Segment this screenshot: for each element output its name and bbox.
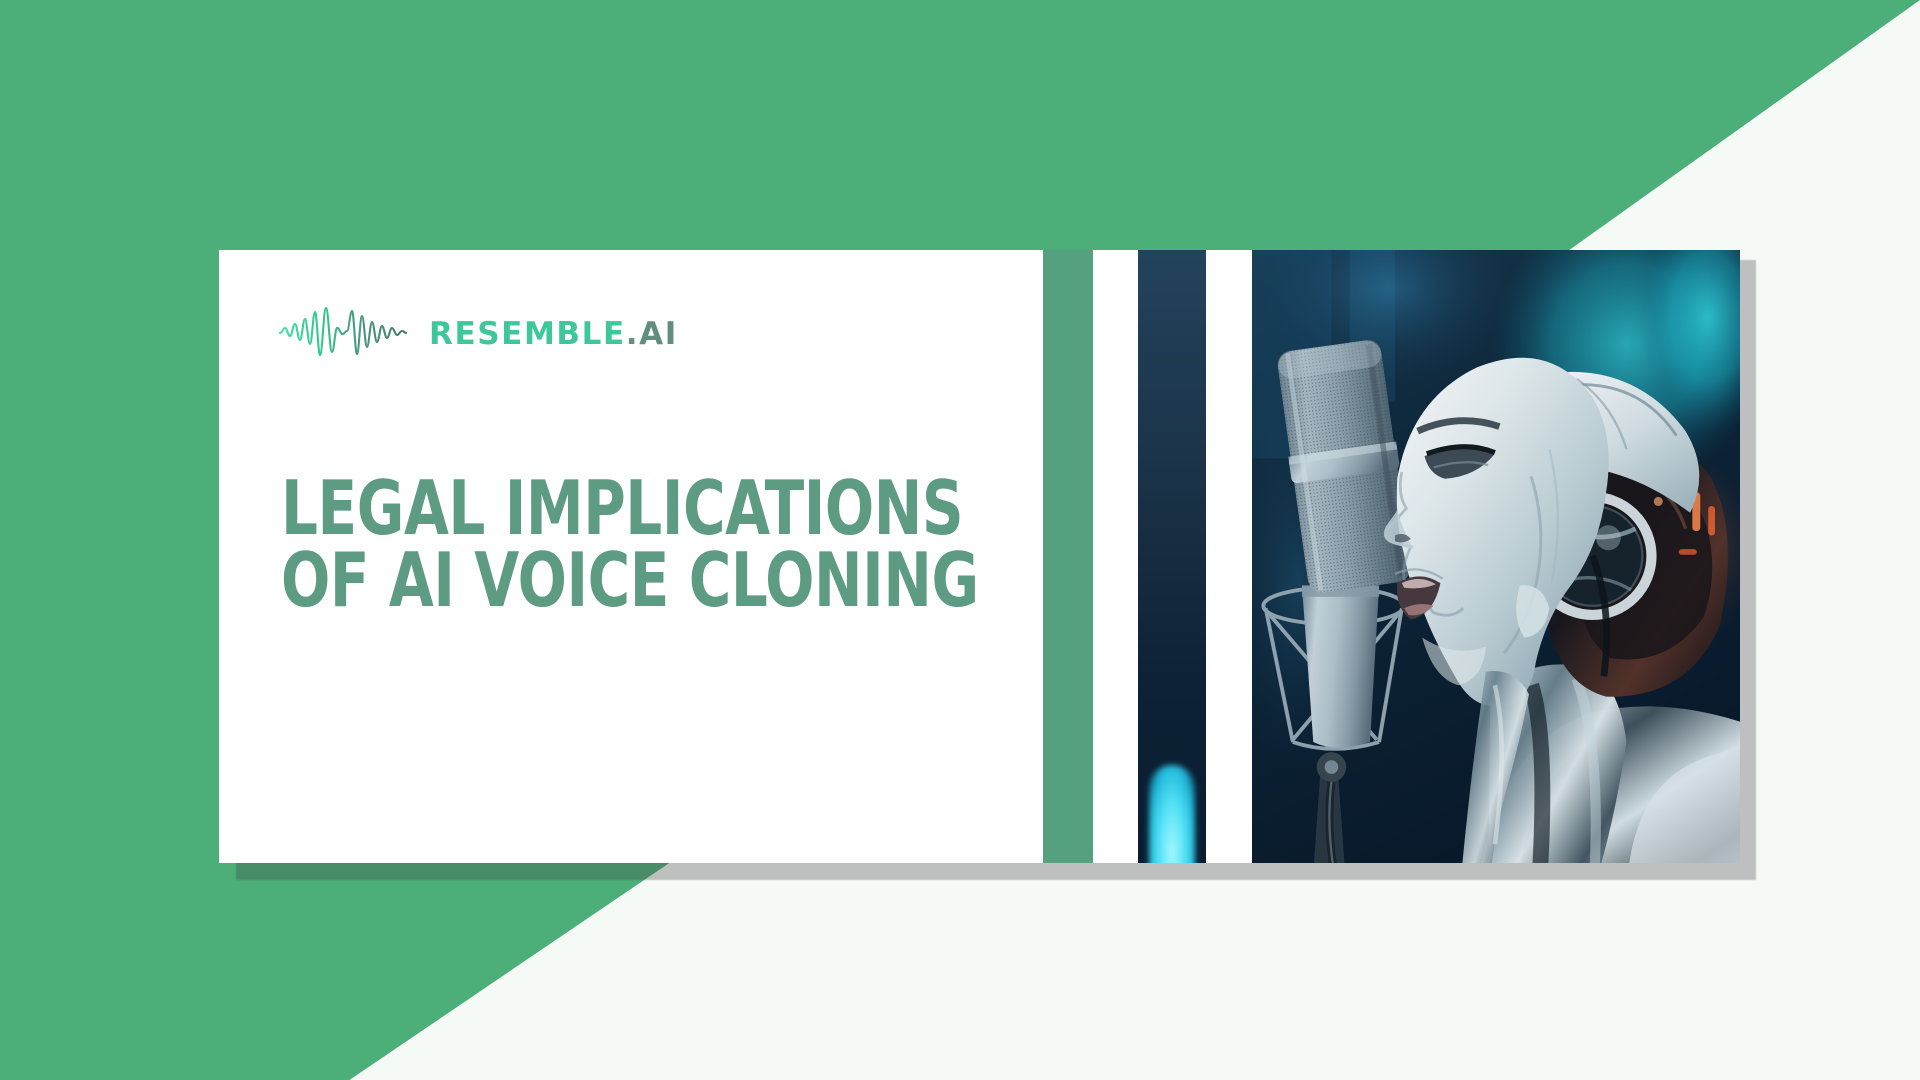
dark-teal-stripe [1138, 250, 1206, 863]
brand-wordmark-suffix: .AI [626, 316, 678, 352]
page-title-line-2: OF AI VOICE CLONING [281, 544, 883, 616]
page-title-line-1: LEGAL IMPLICATIONS [281, 472, 883, 544]
white-gap-stripe-2 [1206, 250, 1252, 863]
banner-stage: RESEMBLE.AI LEGAL IMPLICATIONS OF AI VOI… [0, 0, 1920, 1080]
text-panel: RESEMBLE.AI LEGAL IMPLICATIONS OF AI VOI… [219, 250, 1043, 863]
white-gap-stripe [1093, 250, 1138, 863]
audio-waveform-icon [279, 302, 407, 367]
brand-wordmark: RESEMBLE.AI [429, 319, 678, 350]
brand-wordmark-main: RESEMBLE [429, 316, 626, 352]
hero-photo [1252, 250, 1740, 863]
cyan-glow-icon [1149, 765, 1195, 863]
green-accent-stripe [1043, 250, 1093, 863]
media-panel [1043, 250, 1740, 863]
page-title: LEGAL IMPLICATIONS OF AI VOICE CLONING [281, 472, 883, 616]
hero-card: RESEMBLE.AI LEGAL IMPLICATIONS OF AI VOI… [219, 250, 1740, 863]
brand-logo[interactable]: RESEMBLE.AI [279, 302, 678, 367]
